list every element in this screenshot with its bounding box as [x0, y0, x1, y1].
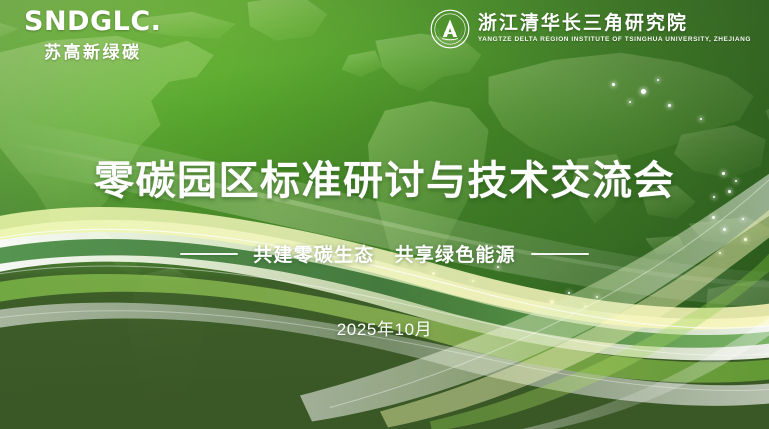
institute-logo-right[interactable]: 浙江清华长三角研究院 YANGTZE DELTA REGION INSTITUT… [430, 9, 751, 49]
header: SNDGLC. 苏高新绿碳 浙江清华长三角研究院 YANGTZE DELTA R… [0, 0, 769, 64]
page-subtitle: 共建零碳生态 共享绿色能源 [253, 240, 516, 267]
institute-seal-icon [430, 9, 470, 49]
brand-wordmark-dot: . [151, 6, 162, 37]
institute-chinese-name: 浙江清华长三角研究院 [478, 14, 688, 34]
institute-english-name: YANGTZE DELTA REGION INSTITUTE OF TSINGH… [478, 37, 751, 44]
subtitle-divider-left-icon [180, 253, 238, 255]
institute-name-block: 浙江清华长三角研究院 YANGTZE DELTA REGION INSTITUT… [478, 14, 751, 43]
brand-logo-left[interactable]: SNDGLC. 苏高新绿碳 [24, 8, 161, 63]
subtitle-divider-right-icon [531, 253, 589, 255]
brand-wordmark: SNDGLC. [24, 8, 161, 35]
poster-slide: SNDGLC. 苏高新绿碳 浙江清华长三角研究院 YANGTZE DELTA R… [0, 0, 769, 429]
page-title: 零碳园区标准研讨与技术交流会 [0, 148, 769, 206]
brand-chinese-name: 苏高新绿碳 [24, 38, 161, 63]
event-date: 2025年10月 [0, 315, 769, 340]
subtitle-row: 共建零碳生态 共享绿色能源 [0, 240, 769, 267]
brand-wordmark-text: SNDGLC [24, 6, 151, 37]
